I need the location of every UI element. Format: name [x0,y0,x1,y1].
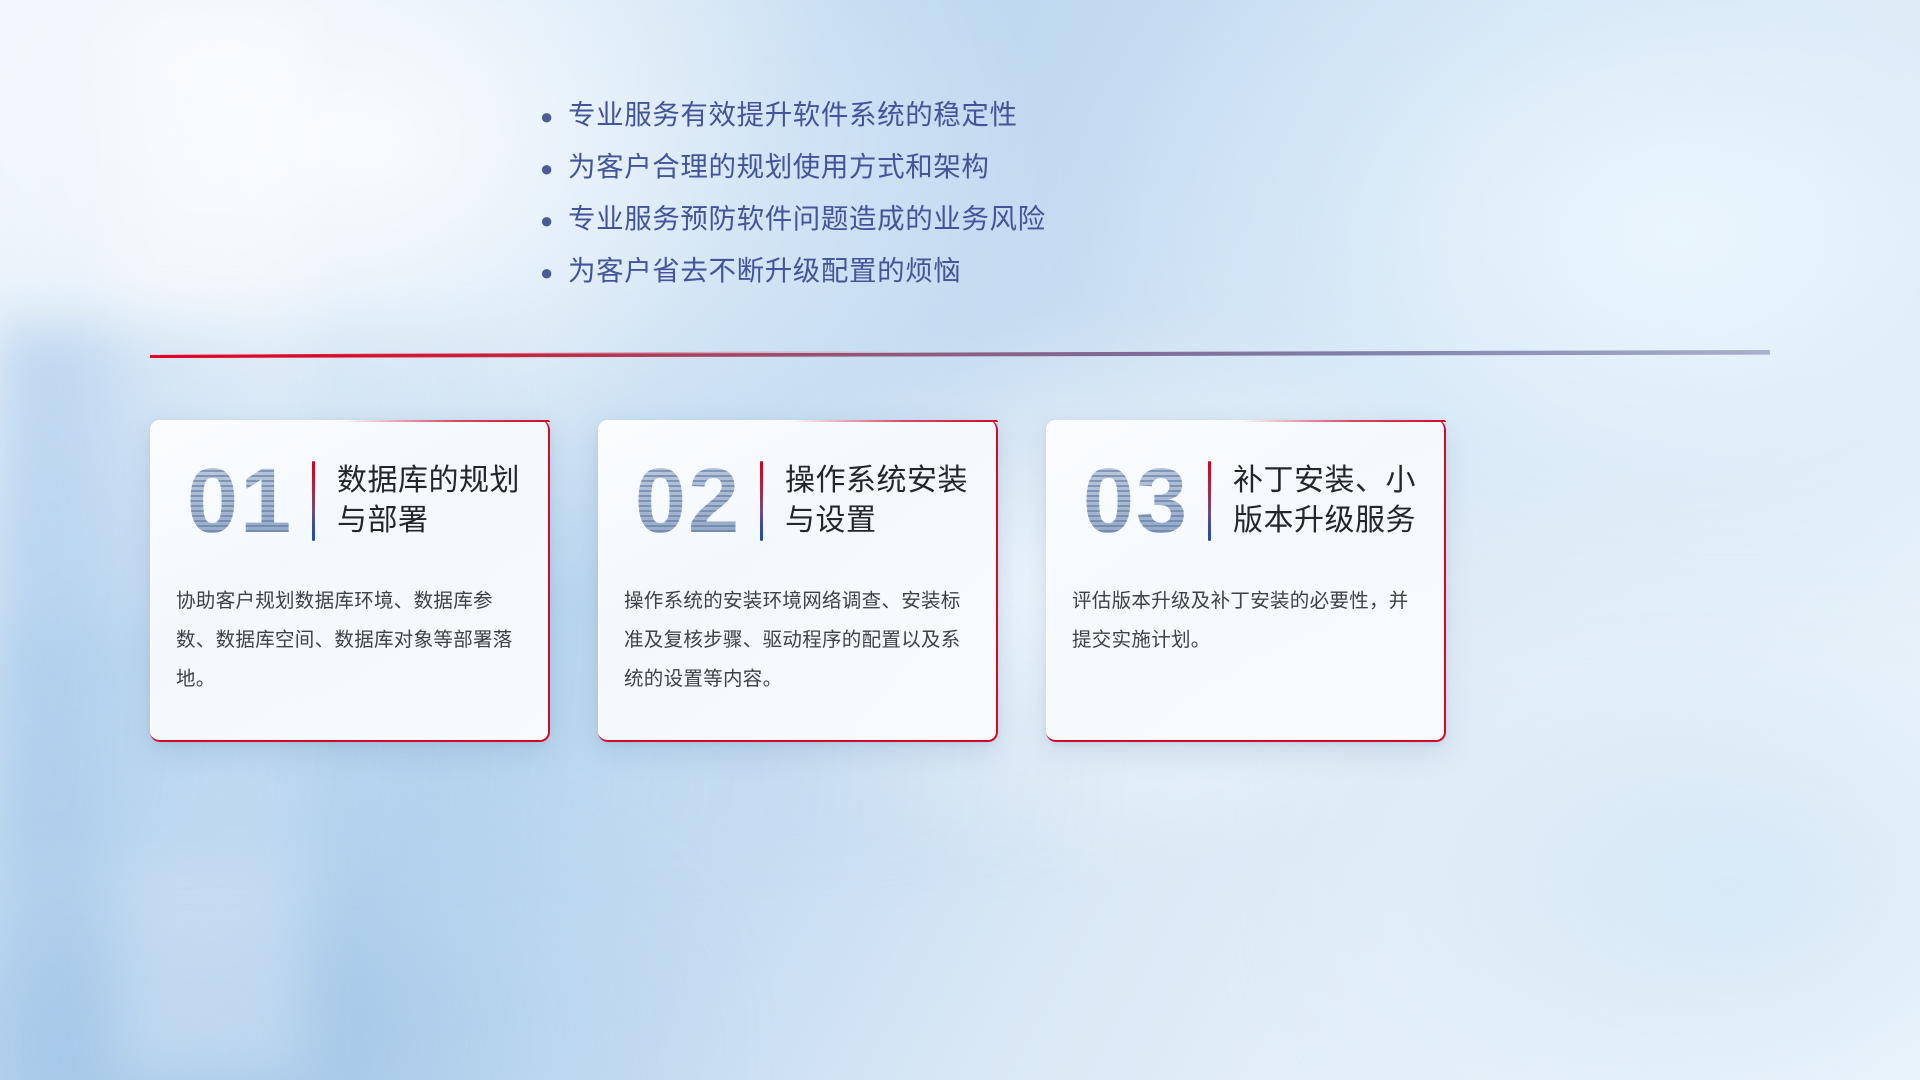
card-description: 协助客户规划数据库环境、数据库参数、数据库空间、数据库对象等部署落地。 [150,582,550,699]
bullet-point-icon: ● [540,158,568,180]
bullet-text: 专业服务有效提升软件系统的稳定性 [568,92,1018,132]
list-item: ● 为客户省去不断升级配置的烦恼 [540,248,1160,300]
benefits-bullet-list: ● 专业服务有效提升软件系统的稳定性 ● 为客户合理的规划使用方式和架构 ● 专… [540,92,1160,300]
bullet-point-icon: ● [540,106,568,128]
service-card-02[interactable]: 02 操作系统安装 与设置 操作系统的安装环境网络调查、安装标准及复核步骤、驱动… [598,420,998,742]
card-number-watermark: 02 [618,455,758,547]
card-number-watermark: 01 [170,455,310,547]
service-card-01[interactable]: 01 数据库的规划 与部署 协助客户规划数据库环境、数据库参数、数据库空间、数据… [150,420,550,742]
service-card-03[interactable]: 03 补丁安装、小 版本升级服务 评估版本升级及补丁安装的必要性，并提交实施计划… [1046,420,1446,742]
service-card-row: 01 数据库的规划 与部署 协助客户规划数据库环境、数据库参数、数据库空间、数据… [150,420,1446,742]
card-header: 03 补丁安装、小 版本升级服务 [1046,420,1446,582]
card-title: 操作系统安装 与设置 [785,461,968,540]
section-divider [150,344,1770,364]
card-header: 01 数据库的规划 与部署 [150,420,550,582]
card-divider-bar [760,461,763,541]
card-number-watermark: 03 [1066,455,1206,547]
card-description: 操作系统的安装环境网络调查、安装标准及复核步骤、驱动程序的配置以及系统的设置等内… [598,582,998,699]
bullet-text: 为客户省去不断升级配置的烦恼 [568,248,961,288]
card-title: 数据库的规划 与部署 [337,461,520,540]
card-title: 补丁安装、小 版本升级服务 [1233,461,1416,540]
card-header: 02 操作系统安装 与设置 [598,420,998,582]
bullet-text: 专业服务预防软件问题造成的业务风险 [568,196,1046,236]
card-divider-bar [1208,461,1211,541]
bullet-point-icon: ● [540,262,568,284]
card-divider-bar [312,461,315,541]
bullet-text: 为客户合理的规划使用方式和架构 [568,144,990,184]
bullet-point-icon: ● [540,210,568,232]
list-item: ● 专业服务有效提升软件系统的稳定性 [540,92,1160,144]
card-description: 评估版本升级及补丁安装的必要性，并提交实施计划。 [1046,582,1446,660]
list-item: ● 为客户合理的规划使用方式和架构 [540,144,1160,196]
list-item: ● 专业服务预防软件问题造成的业务风险 [540,196,1160,248]
